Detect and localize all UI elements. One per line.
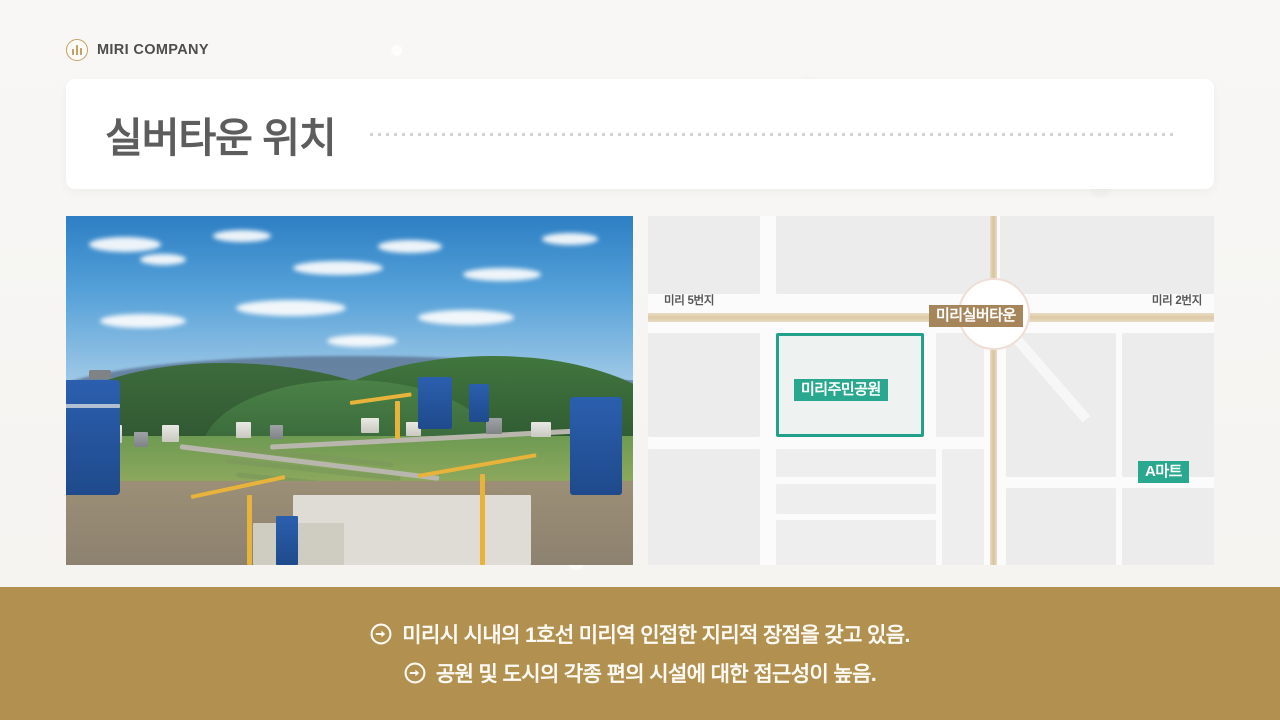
photo-cloud <box>213 230 271 242</box>
map-block <box>936 333 984 437</box>
photo-crane-mast <box>247 495 252 565</box>
map-block <box>1122 333 1214 477</box>
footer-line-text: 미리시 시내의 1호선 미리역 인접한 지리적 장점을 갖고 있음. <box>402 619 909 649</box>
aerial-construction-site-photo <box>66 216 633 565</box>
footer-highlight-band: 미리시 시내의 1호선 미리역 인접한 지리적 장점을 갖고 있음. 공원 및 … <box>0 587 1280 720</box>
photo-rooftop-unit <box>89 370 111 379</box>
photo-tower-band <box>66 404 120 408</box>
map-block <box>776 449 936 477</box>
map-block <box>776 520 936 565</box>
brand-name: MIRI COMPANY <box>97 42 209 58</box>
map-block <box>942 449 984 565</box>
photo-crane-mast <box>395 401 400 439</box>
photo-building <box>361 418 379 433</box>
photo-building <box>134 432 148 447</box>
title-dotted-divider <box>370 133 1178 136</box>
photo-blue-tower <box>469 384 489 422</box>
photo-building <box>236 422 251 438</box>
map-block <box>1006 216 1214 294</box>
photo-blue-tower <box>570 397 622 495</box>
photo-concrete-slab <box>253 523 344 565</box>
photo-blue-tower <box>418 377 452 429</box>
brand-logo: MIRI COMPANY <box>66 39 209 61</box>
photo-building <box>162 425 179 442</box>
arrow-circle-right-icon <box>404 662 426 684</box>
photo-site-barrier <box>276 516 298 565</box>
building-circle-icon <box>66 39 88 61</box>
map-block <box>648 333 760 437</box>
map-badge-miri-park[interactable]: 미리주민공원 <box>794 379 888 401</box>
photo-building <box>531 422 551 437</box>
content-row: 미리 5번지 미리 2번지 미리실버타운 미리주민공원 A마트 <box>0 216 1280 566</box>
map-block <box>648 216 760 294</box>
map-block <box>648 449 760 565</box>
title-card: 실버타운 위치 <box>66 79 1214 189</box>
map-block <box>776 484 936 514</box>
photo-cloud <box>89 237 161 252</box>
map-badge-miri-silvertown[interactable]: 미리실버타운 <box>929 305 1023 327</box>
photo-cloud <box>236 300 346 316</box>
footer-line: 공원 및 도시의 각종 편의 시설에 대한 접근성이 높음. <box>404 658 876 688</box>
map-block <box>1122 488 1214 565</box>
map-block <box>1006 333 1116 477</box>
location-map[interactable]: 미리 5번지 미리 2번지 미리실버타운 미리주민공원 A마트 <box>648 216 1214 565</box>
map-block <box>1006 488 1116 565</box>
footer-line-text: 공원 및 도시의 각종 편의 시설에 대한 접근성이 높음. <box>436 658 876 688</box>
map-label-miri-2: 미리 2번지 <box>1152 292 1202 308</box>
map-badge-a-mart[interactable]: A마트 <box>1138 461 1189 483</box>
arrow-circle-right-icon <box>370 623 392 645</box>
photo-crane-mast <box>480 474 485 565</box>
map-road-vertical <box>990 216 997 565</box>
photo-cloud <box>100 314 186 328</box>
photo-building <box>270 425 283 439</box>
photo-blue-tower <box>66 380 120 495</box>
map-block <box>776 216 994 294</box>
map-label-miri-5: 미리 5번지 <box>664 292 714 308</box>
photo-cloud <box>327 335 397 347</box>
page-title: 실버타운 위치 <box>105 104 336 164</box>
footer-line: 미리시 시내의 1호선 미리역 인접한 지리적 장점을 갖고 있음. <box>370 619 909 649</box>
